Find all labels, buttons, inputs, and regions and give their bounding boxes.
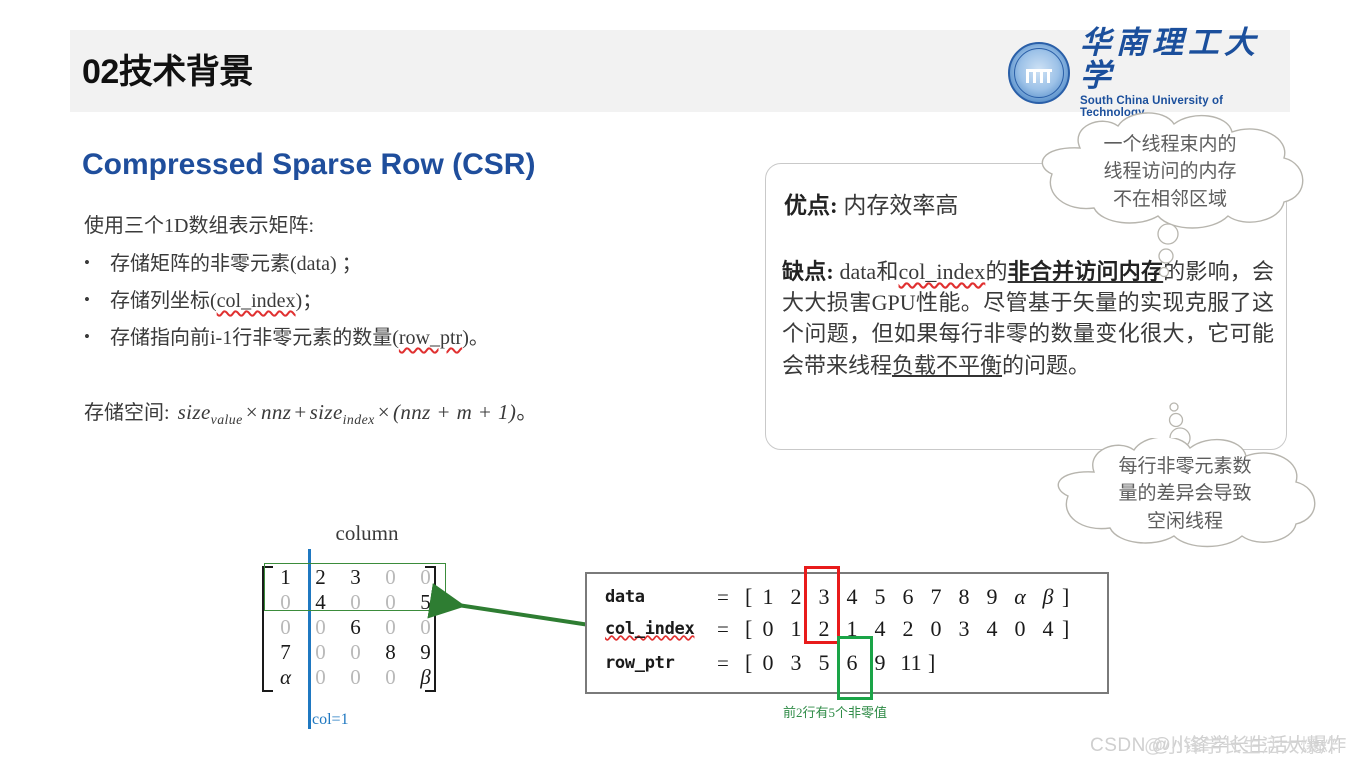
list-item-text: 存储矩阵的非零元素(data) ； bbox=[110, 252, 362, 277]
array-cell: 6 bbox=[894, 584, 922, 610]
cloud-warp-memory: 一个线程束内的 线程访问的内存 不在相邻区域 bbox=[1022, 112, 1318, 232]
logo-texts: 华南理工大学 South China University of Technol… bbox=[1080, 27, 1288, 118]
bullet-list: • 存储矩阵的非零元素(data) ； • 存储列坐标(col_index)； … bbox=[84, 252, 724, 363]
pros-line: 优点: 内存效率高 bbox=[784, 186, 958, 220]
first-two-rows-highlight bbox=[264, 563, 446, 611]
matrix-row: 00600 bbox=[268, 615, 443, 640]
array-cell: 9 bbox=[978, 584, 1006, 610]
array-row-row-ptr: row_ptr = [0356911] bbox=[605, 650, 937, 676]
logo-chinese-name: 华南理工大学 bbox=[1080, 27, 1288, 92]
cloud-idle-threads: 每行非零元素数 量的差异会导致 空闲线程 bbox=[1040, 438, 1330, 550]
matrix-cell: 8 bbox=[373, 640, 408, 665]
equals-sign: = bbox=[717, 651, 745, 676]
array-cell: β bbox=[1034, 584, 1062, 610]
matrix-cell: 0 bbox=[373, 615, 408, 640]
array-values: [123456789αβ] bbox=[745, 584, 1071, 610]
array-cell: 2 bbox=[894, 616, 922, 642]
formula-label: 存储空间: bbox=[84, 396, 170, 425]
cloud-shape-icon bbox=[1022, 112, 1318, 232]
matrix-row: α000β bbox=[268, 665, 443, 690]
slide-root: 02技术背景 华南理工大学 South China University of … bbox=[0, 0, 1356, 761]
cons-emphasis-2: 负载不平衡 bbox=[892, 353, 1002, 378]
bracket-close: ] bbox=[1062, 584, 1071, 610]
array-cell: 0 bbox=[754, 650, 782, 676]
watermark-overlay: @小锋学长生活大爆炸 bbox=[1144, 731, 1339, 758]
matrix-cell: 0 bbox=[268, 615, 303, 640]
array-cell: α bbox=[1006, 584, 1034, 610]
array-label: col_index bbox=[605, 619, 717, 639]
list-item-text: 存储指向前i-1行非零元素的数量(row_ptr)。 bbox=[110, 326, 489, 351]
array-cell: 0 bbox=[1006, 616, 1034, 642]
list-item-text: 存储列坐标(col_index)； bbox=[110, 289, 322, 314]
matrix-cell: 6 bbox=[338, 615, 373, 640]
cloud-tail-bubbles-top bbox=[1150, 222, 1190, 282]
list-item: • 存储列坐标(col_index)； bbox=[84, 289, 724, 314]
list-item: • 存储矩阵的非零元素(data) ； bbox=[84, 252, 724, 277]
col-index-highlight bbox=[804, 566, 840, 644]
column-index-label: col=1 bbox=[312, 711, 349, 729]
matrix-cell: 0 bbox=[303, 665, 338, 690]
cons-label: 缺点: bbox=[782, 259, 834, 284]
bracket-open: [ bbox=[745, 584, 754, 610]
university-seal-icon bbox=[1008, 42, 1070, 104]
matrix-cell: 0 bbox=[338, 640, 373, 665]
lead-text: 使用三个1D数组表示矩阵: bbox=[84, 216, 314, 236]
bullet-dot-icon: • bbox=[84, 289, 110, 310]
array-values: [01214203404] bbox=[745, 616, 1071, 642]
matrix-cell: α bbox=[268, 665, 303, 690]
row-ptr-highlight bbox=[837, 636, 873, 700]
array-cell: 4 bbox=[838, 584, 866, 610]
bracket-open: [ bbox=[745, 650, 754, 676]
spellcheck-token: col_index bbox=[217, 290, 296, 312]
array-cell: 1 bbox=[754, 584, 782, 610]
list-item: • 存储指向前i-1行非零元素的数量(row_ptr)。 bbox=[84, 326, 724, 351]
formula-expression: sizevalue×nnz+sizeindex×(nnz + m + 1)。 bbox=[178, 396, 538, 428]
storage-formula: 存储空间: sizevalue×nnz+sizeindex×(nnz + m +… bbox=[84, 396, 538, 428]
seal-ring bbox=[1014, 48, 1064, 98]
matrix-row: 70089 bbox=[268, 640, 443, 665]
array-cell: 11 bbox=[894, 650, 928, 676]
nonzero-count-caption: 前2行有5个非零值 bbox=[700, 702, 970, 721]
array-cell: 8 bbox=[950, 584, 978, 610]
bracket-open: [ bbox=[745, 616, 754, 642]
section-title: Compressed Sparse Row (CSR) bbox=[82, 148, 535, 182]
csr-arrays-box: data = [123456789αβ] col_index = [012142… bbox=[585, 572, 1109, 694]
array-cell: 0 bbox=[754, 616, 782, 642]
bracket-close: ] bbox=[1062, 616, 1071, 642]
array-cell: 3 bbox=[782, 650, 810, 676]
matrix-cell: 0 bbox=[338, 665, 373, 690]
array-cell: 0 bbox=[922, 616, 950, 642]
matrix-cell: 0 bbox=[303, 640, 338, 665]
equals-sign: = bbox=[717, 585, 745, 610]
bullet-dot-icon: • bbox=[84, 252, 110, 273]
cons-paragraph: 缺点: data和col_index的非合并访问内存的影响，会大大损害GPU性能… bbox=[782, 256, 1274, 381]
array-cell: 5 bbox=[866, 584, 894, 610]
university-logo: 华南理工大学 South China University of Technol… bbox=[1008, 42, 1288, 104]
spellcheck-token: col_index bbox=[899, 259, 986, 284]
array-cell: 4 bbox=[978, 616, 1006, 642]
matrix-cell: 0 bbox=[373, 665, 408, 690]
cloud-shape-icon bbox=[1040, 438, 1330, 550]
cons-emphasis-1: 非合并访问内存 bbox=[1008, 259, 1163, 284]
array-label: data bbox=[605, 587, 717, 607]
array-cell: 4 bbox=[1034, 616, 1062, 642]
matrix-cell: 0 bbox=[303, 615, 338, 640]
spellcheck-token: row_ptr bbox=[399, 327, 462, 349]
array-cell: 3 bbox=[950, 616, 978, 642]
array-cell: 5 bbox=[810, 650, 838, 676]
page-title: 02技术背景 bbox=[82, 44, 253, 93]
matrix-cell: 7 bbox=[268, 640, 303, 665]
array-label: row_ptr bbox=[605, 653, 717, 673]
column-label: column bbox=[312, 521, 422, 546]
pros-text: 内存效率高 bbox=[843, 193, 958, 218]
bracket-close: ] bbox=[928, 650, 937, 676]
csdn-watermark: CSDN @小锋学长生活大爆炸 @小锋学长生活大爆炸 bbox=[1090, 730, 1347, 757]
equals-sign: = bbox=[717, 617, 745, 642]
bullet-dot-icon: • bbox=[84, 326, 110, 347]
pros-label: 优点: bbox=[784, 193, 838, 218]
array-cell: 7 bbox=[922, 584, 950, 610]
